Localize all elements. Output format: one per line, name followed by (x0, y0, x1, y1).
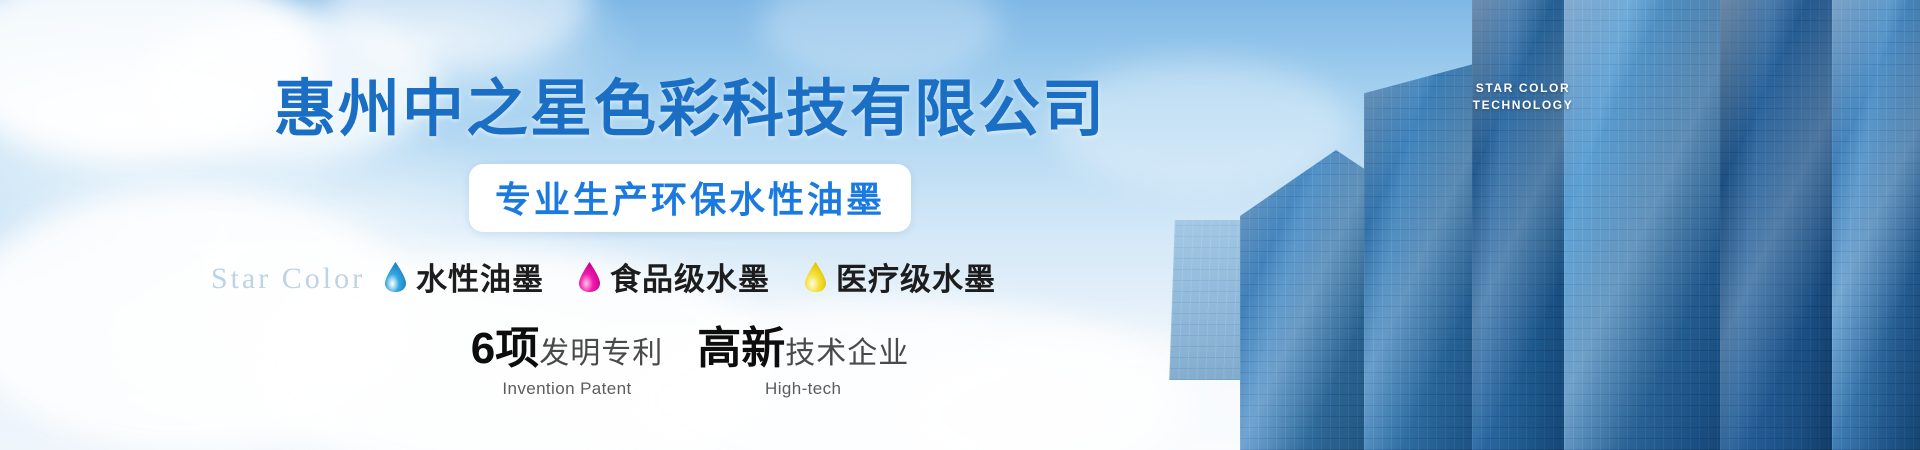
city-brand-line-2: TECHNOLOGY (1468, 97, 1578, 114)
building-f (1832, 0, 1920, 450)
company-title: 惠州中之星色彩科技有限公司 (274, 58, 1106, 148)
credential-badges: 6项发明专利 Invention Patent 高新技术企业 High-tech (471, 327, 909, 399)
promo-banner: ★ Star Color STAR COLOR TECHNOLOGY 惠州中之星… (0, 0, 1920, 450)
water-drop-icon (384, 261, 407, 293)
badge-headline: 6项 (471, 324, 539, 373)
banner-content: 惠州中之星色彩科技有限公司 专业生产环保水性油墨 水性油墨 (0, 0, 1380, 450)
city-brand-line-1: STAR COLOR (1468, 80, 1578, 97)
badge-subhead: 发明专利 (539, 337, 663, 370)
badge-item: 6项发明专利 Invention Patent (471, 327, 663, 399)
subtitle-text: 专业生产环保水性油墨 (495, 179, 885, 220)
city-brand-label: STAR COLOR TECHNOLOGY (1468, 80, 1578, 114)
feature-list: 水性油墨 食品级水墨 (384, 254, 996, 299)
badge-subhead: 技术企业 (785, 337, 909, 370)
badge-english: Invention Patent (471, 379, 663, 399)
badge-headline: 高新 (697, 324, 785, 373)
water-drop-icon (578, 261, 601, 293)
feature-item: 医疗级水墨 (804, 254, 996, 299)
water-drop-icon (804, 261, 827, 293)
subtitle-pill: 专业生产环保水性油墨 (469, 164, 911, 232)
feature-label: 医疗级水墨 (836, 254, 996, 299)
feature-label: 水性油墨 (416, 254, 544, 299)
badge-english: High-tech (697, 379, 909, 399)
feature-item: 水性油墨 (384, 254, 544, 299)
building-e (1720, 0, 1848, 450)
feature-item: 食品级水墨 (578, 254, 770, 299)
feature-label: 食品级水墨 (610, 254, 770, 299)
badge-item: 高新技术企业 High-tech (697, 327, 909, 399)
building-d (1564, 0, 1742, 450)
